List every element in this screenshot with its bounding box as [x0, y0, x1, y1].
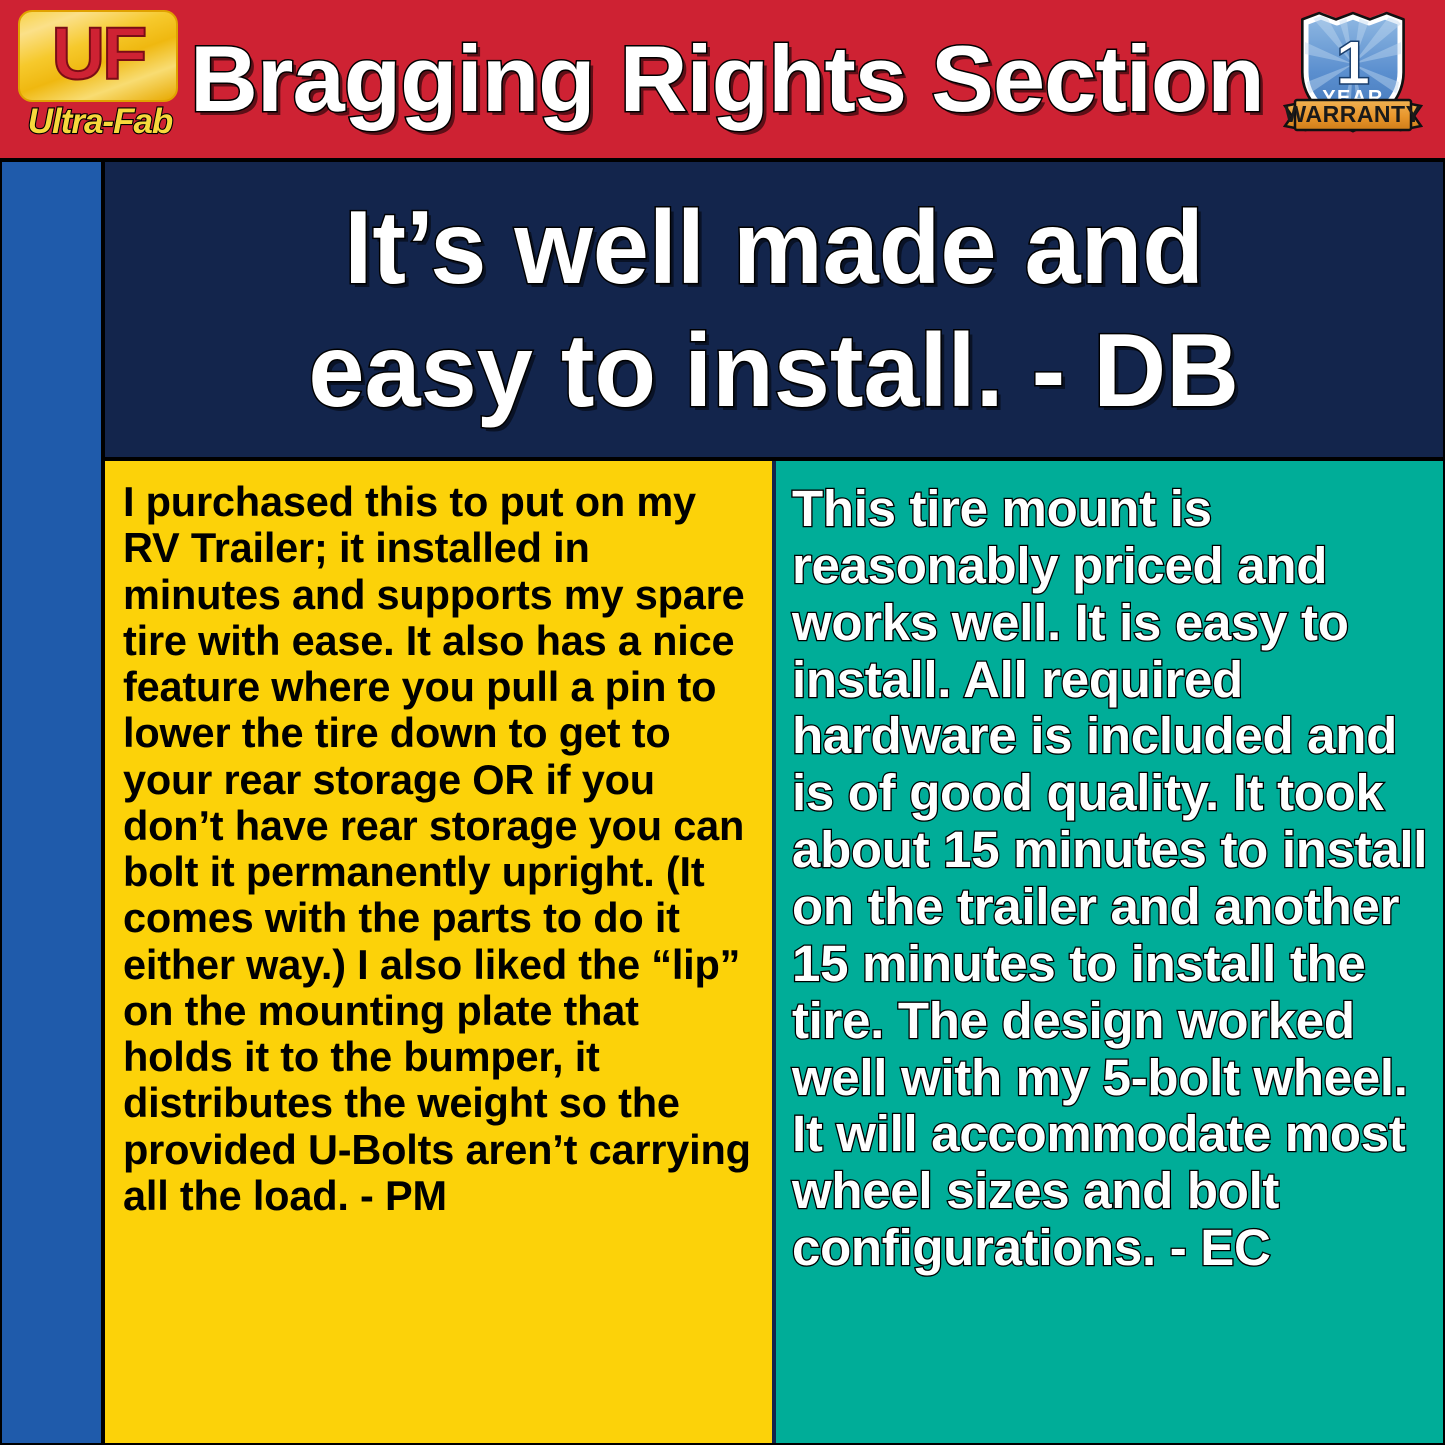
bragging-rights-poster: UF Ultra-Fab Bragging Rights Section	[0, 0, 1445, 1445]
review-text-right: This tire mount is reasonably priced and…	[792, 481, 1433, 1277]
review-card-left: I purchased this to put on my RV Trailer…	[105, 461, 772, 1443]
featured-quote-line-1: It’s well made and	[344, 187, 1204, 310]
featured-quote-line-2: easy to install. - DB	[309, 310, 1240, 433]
review-card-right: This tire mount is reasonably priced and…	[776, 461, 1443, 1443]
logo-badge-plate: UF	[18, 10, 178, 102]
review-text-left: I purchased this to put on my RV Trailer…	[123, 479, 758, 1219]
warranty-shield-icon: 1 YEAR WARRANTY	[1283, 8, 1423, 138]
logo-uf-mark: UF	[20, 12, 176, 100]
ultra-fab-logo: UF Ultra-Fab	[12, 8, 188, 148]
review-columns: I purchased this to put on my RV Trailer…	[105, 461, 1443, 1443]
featured-quote: It’s well made and easy to install. - DB	[105, 162, 1443, 457]
logo-brand-name: Ultra-Fab	[16, 104, 184, 139]
header-bar: UF Ultra-Fab Bragging Rights Section	[0, 0, 1445, 158]
page-title: Bragging Rights Section	[190, 16, 1265, 142]
svg-text:WARRANTY: WARRANTY	[1285, 101, 1422, 127]
left-blue-rail	[2, 162, 101, 1443]
